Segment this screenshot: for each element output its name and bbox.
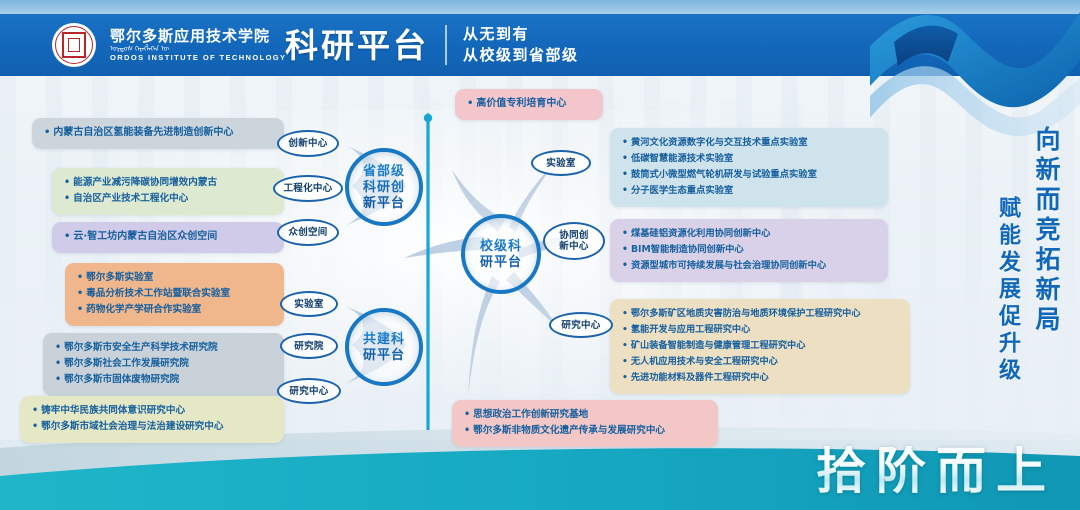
box-line: 鄂尔多斯非物质文化遗产传承与发展研究中心 [464, 423, 706, 439]
box-engineering-research-centers: 鄂尔多斯矿区地质灾害防治与地质环境保护工程研究中心 氢能开发与应用工程研究中心 … [610, 299, 910, 394]
box-cloud-workshop: 云·智工坊内蒙古自治区众创空间 [52, 222, 284, 253]
node-label: 众创空间 [288, 227, 327, 238]
hub-school-platform[interactable]: 校级科 研平台 [461, 214, 541, 294]
node-innovation-center[interactable]: 创新中心 [277, 130, 339, 157]
box-line: 分子医学生态重点实验室 [622, 183, 876, 199]
box-line: 铸牢中华民族共同体意识研究中心 [32, 403, 272, 419]
box-ordos-institutes: 鄂尔多斯市安全生产科学技术研究院 鄂尔多斯社会工作发展研究院 鄂尔多斯市固体废物… [43, 333, 284, 396]
node-label: 实验室 [546, 158, 575, 169]
node-label: 实验室 [294, 299, 323, 310]
slogan-vertical-left: 赋能发展促升级 [992, 196, 1024, 385]
box-line: 鄂尔多斯市固体废物研究院 [55, 372, 272, 388]
box-patent-center: 高价值专利培育中心 [455, 89, 603, 120]
box-line: 自治区产业技术工程化中心 [64, 191, 272, 207]
box-line: 矿山装备智能制造与健康管理工程研究中心 [622, 338, 898, 354]
node-lab-left[interactable]: 实验室 [280, 291, 338, 317]
node-label: 研究中心 [561, 320, 600, 331]
box-ethnic-governance: 铸牢中华民族共同体意识研究中心 鄂尔多斯市域社会治理与法治建设研究中心 [20, 396, 284, 443]
box-key-labs: 黄河文化资源数字化与交互技术重点实验室 低碳智慧能源技术实验室 鼓筒式小微型燃气… [610, 128, 888, 207]
box-line: 内蒙古自治区氢能装备先进制造创新中心 [44, 125, 272, 141]
box-line: 无人机应用技术与安全工程研究中心 [622, 354, 898, 370]
hub-provincial-platform[interactable]: 省部级 科研创 新平台 [345, 148, 423, 226]
slogan-vertical-right: 向新而竞拓新局 [1028, 126, 1064, 336]
hub-label: 共建科 研平台 [363, 331, 405, 363]
box-line: 云·智工坊内蒙古自治区众创空间 [64, 229, 272, 245]
node-label: 工程化中心 [283, 183, 332, 194]
box-collab-centers: 煤基硅铝资源化利用协同创新中心 BIM智能制造协同创新中心 资源型城市可持续发展… [610, 219, 888, 282]
box-line: 高价值专利培育中心 [467, 96, 591, 112]
slogan-calligraphy: 拾阶而上 [816, 446, 1056, 496]
node-label: 研究院 [294, 341, 323, 352]
hub-cobuilt-platform[interactable]: 共建科 研平台 [345, 308, 423, 386]
node-research-center-right[interactable]: 研究中心 [549, 312, 613, 338]
node-label: 研究中心 [289, 386, 328, 397]
node-engineering-center[interactable]: 工程化中心 [273, 175, 343, 202]
box-line: BIM智能制造协同创新中心 [622, 242, 876, 258]
node-collab-innovation-center[interactable]: 协同创 新中心 [543, 222, 605, 260]
hub-label: 省部级 科研创 新平台 [363, 163, 405, 211]
box-line: 低碳智慧能源技术实验室 [622, 151, 876, 167]
box-line: 鄂尔多斯社会工作发展研究院 [55, 356, 272, 372]
box-line: 资源型城市可持续发展与社会治理协同创新中心 [622, 258, 876, 274]
box-line: 药物化学产学研合作实验室 [77, 302, 272, 318]
node-lab-right[interactable]: 实验室 [531, 150, 591, 176]
node-label: 协同创 新中心 [559, 230, 588, 252]
box-line: 鄂尔多斯矿区地质灾害防治与地质环境保护工程研究中心 [622, 306, 898, 322]
node-institute[interactable]: 研究院 [280, 333, 338, 359]
node-research-center-left[interactable]: 研究中心 [277, 378, 341, 404]
poster-canvas: 鄂尔多斯应用技术学院 ᠣᠷᠳᠣᠰ ᠬᠡᠷᠡᠭᠯᠡᠭᠡᠨ ᠦ ORDOS INST… [0, 0, 1080, 510]
hub-label: 校级科 研平台 [480, 238, 522, 270]
box-line: 黄河文化资源数字化与交互技术重点实验室 [622, 135, 876, 151]
box-line: 氢能开发与应用工程研究中心 [622, 322, 898, 338]
box-line: 毒品分析技术工作站暨联合实验室 [77, 286, 272, 302]
box-ideology-heritage: 思想政治工作创新研究基地 鄂尔多斯非物质文化遗产传承与发展研究中心 [452, 400, 718, 447]
box-energy-carbon: 能源产业减污降碳协同增效内蒙古 自治区产业技术工程化中心 [52, 168, 284, 215]
box-line: 鄂尔多斯市安全生产科学技术研究院 [55, 340, 272, 356]
box-line: 鄂尔多斯市域社会治理与法治建设研究中心 [32, 419, 272, 435]
box-ordos-labs: 鄂尔多斯实验室 毒品分析技术工作站暨联合实验室 药物化学产学研合作实验室 [65, 263, 284, 326]
box-line: 能源产业减污降碳协同增效内蒙古 [64, 175, 272, 191]
box-line: 鼓筒式小微型燃气轮机研发与试验重点实验室 [622, 167, 876, 183]
box-line: 煤基硅铝资源化利用协同创新中心 [622, 226, 876, 242]
node-maker-space[interactable]: 众创空间 [277, 219, 339, 246]
box-line: 思想政治工作创新研究基地 [464, 407, 706, 423]
box-hydrogen-equipment: 内蒙古自治区氢能装备先进制造创新中心 [32, 118, 284, 149]
node-label: 创新中心 [288, 138, 327, 149]
box-line: 鄂尔多斯实验室 [77, 270, 272, 286]
box-line: 先进功能材料及器件工程研究中心 [622, 370, 898, 386]
